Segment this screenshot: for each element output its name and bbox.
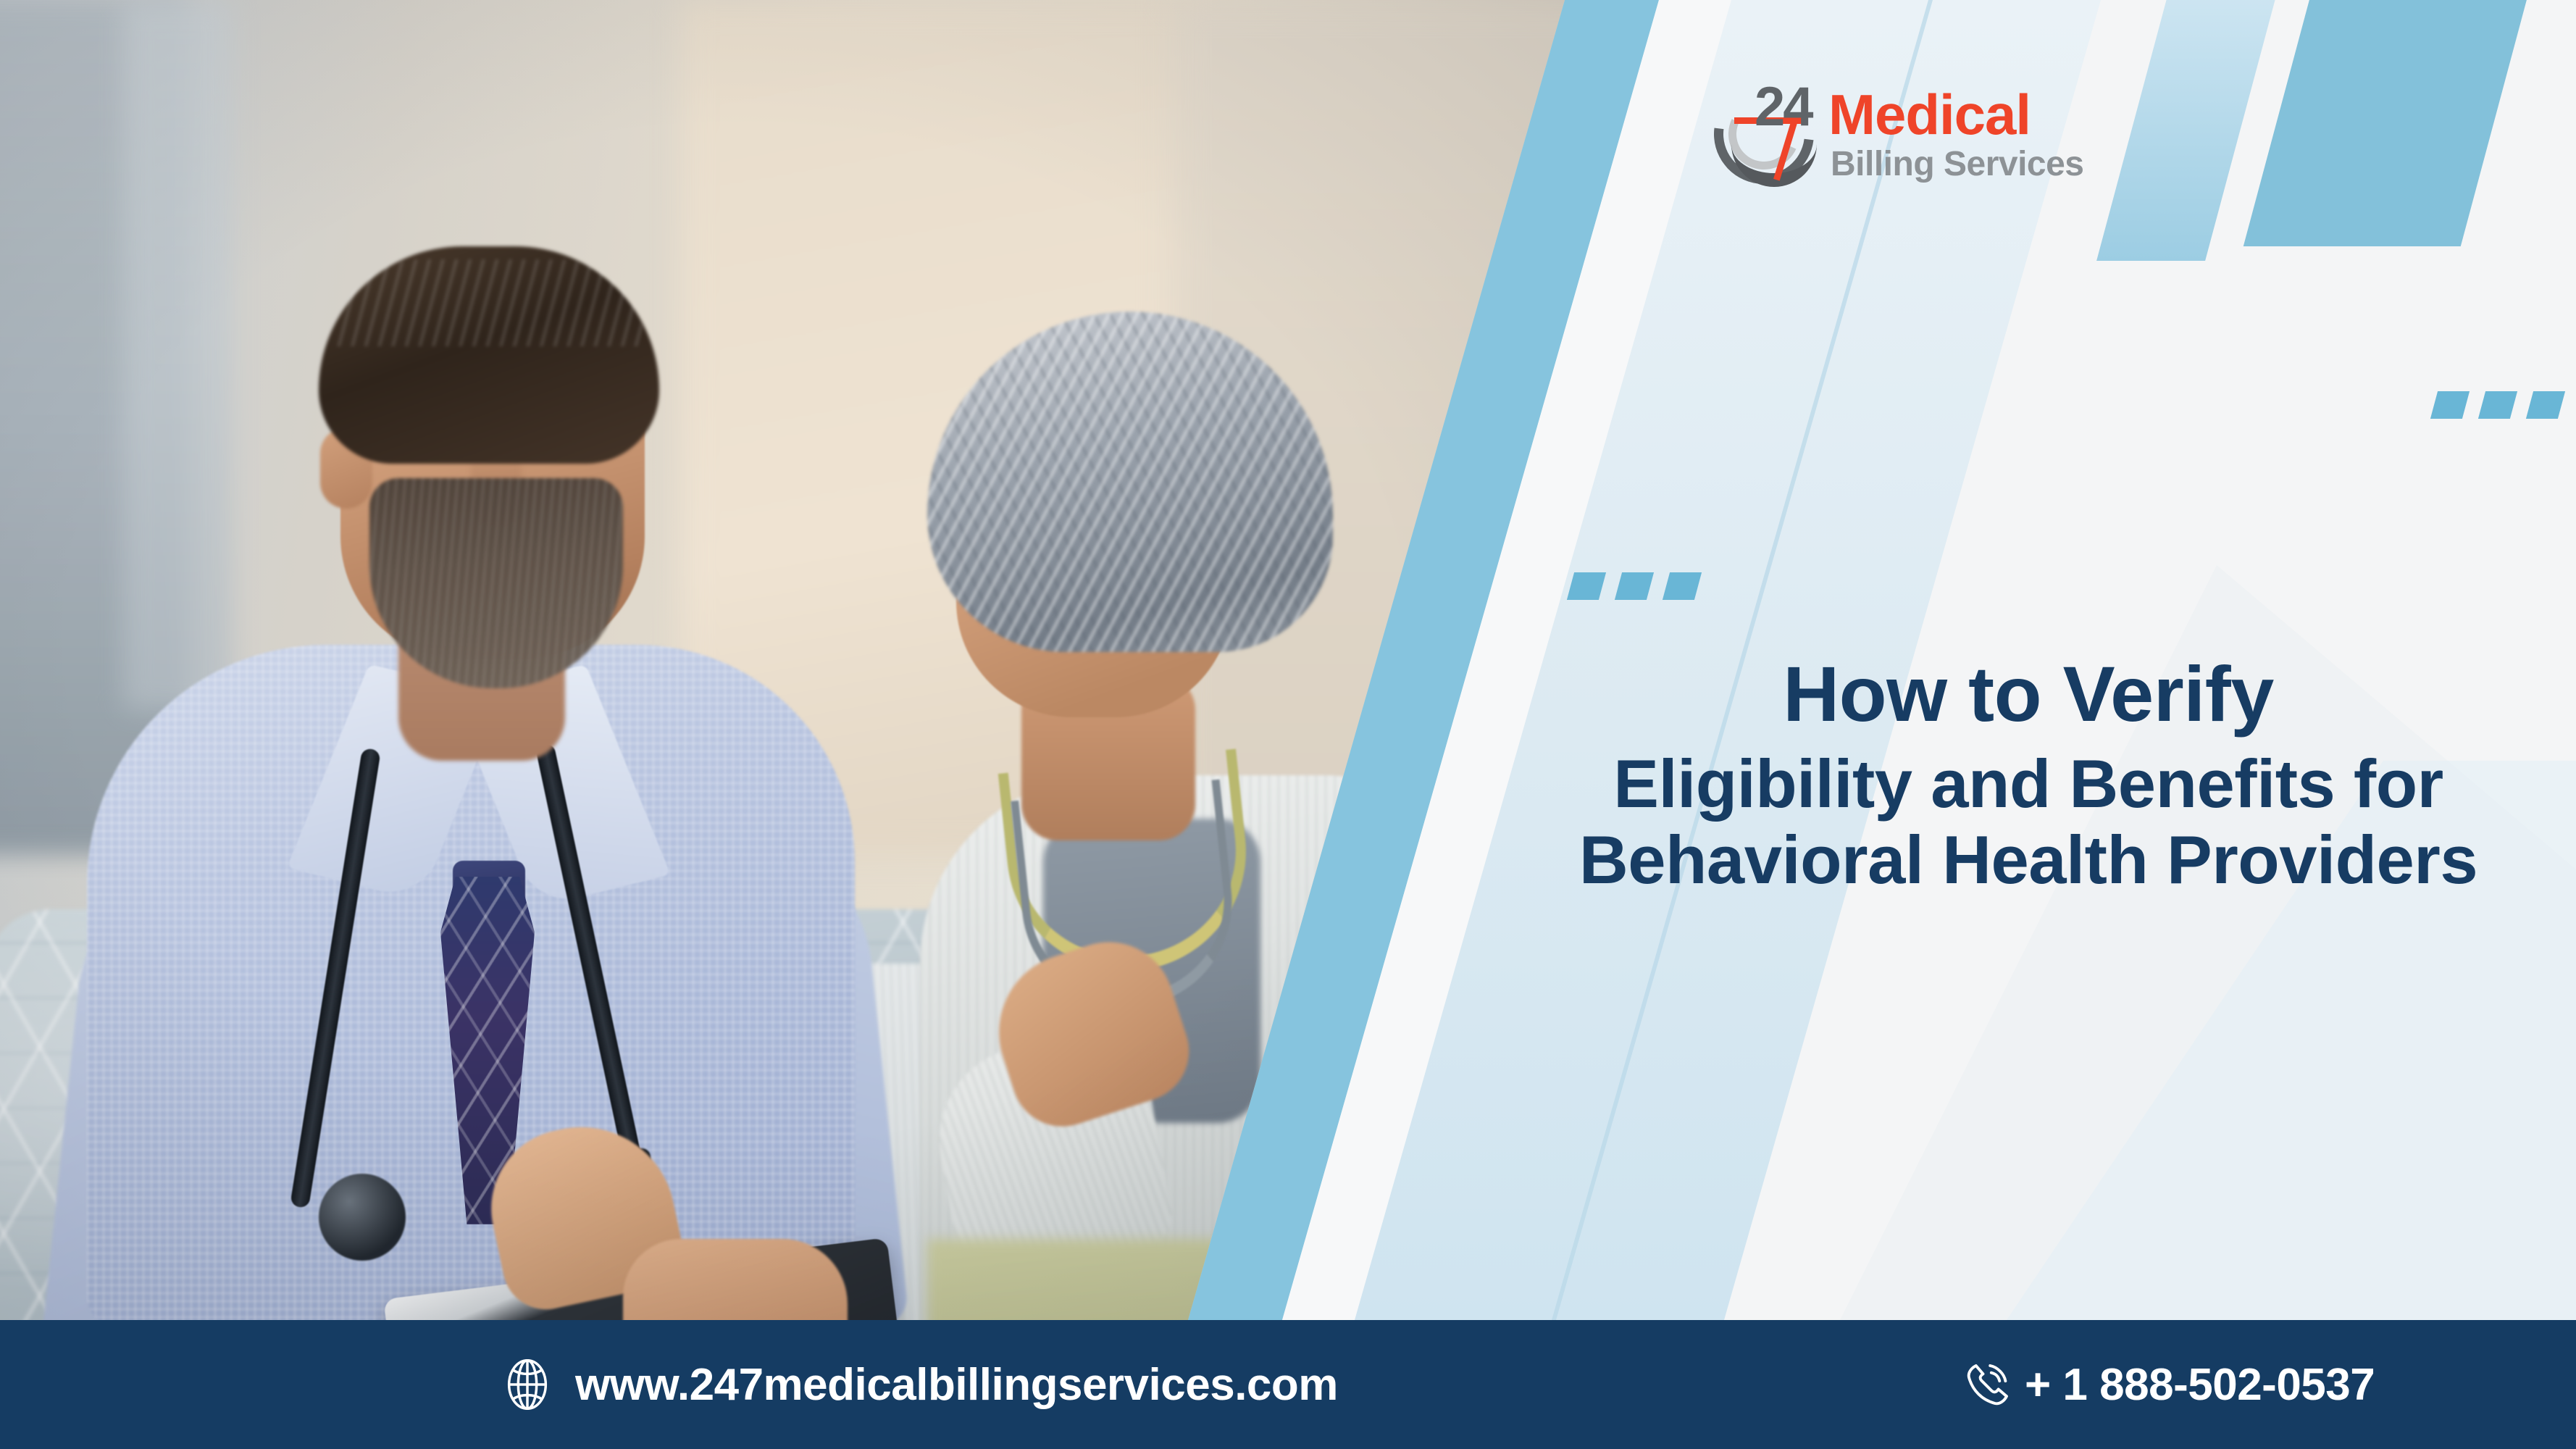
website-url-text: www.247medicalbillingservices.com bbox=[575, 1359, 1338, 1411]
dot-shape bbox=[2526, 391, 2565, 419]
phone-link[interactable]: + 1 888-502-0537 bbox=[1960, 1356, 2375, 1413]
decorative-dots-right bbox=[2434, 391, 2562, 419]
globe-icon bbox=[500, 1357, 555, 1412]
dot-shape bbox=[2478, 391, 2517, 419]
headline-block: How to Verify Eligibility and Benefits f… bbox=[1521, 652, 2535, 897]
clock-24-7-icon: 24 bbox=[1710, 80, 1818, 188]
accent-parallelogram-solid bbox=[2243, 0, 2530, 246]
banner: 24 Medical Billing Services How to Verif… bbox=[0, 0, 2576, 1449]
dot-shape bbox=[1615, 572, 1654, 600]
logo-medical-text: Medical bbox=[1828, 86, 2084, 143]
headline-line-1: How to Verify bbox=[1521, 652, 2535, 737]
decorative-dots-left bbox=[1571, 572, 1698, 600]
headline-line-2: Eligibility and Benefits for bbox=[1521, 747, 2535, 821]
company-logo[interactable]: 24 Medical Billing Services bbox=[1710, 80, 2084, 188]
phone-call-icon bbox=[1960, 1356, 2016, 1413]
logo-24-text: 24 bbox=[1755, 75, 1812, 138]
dot-shape bbox=[2430, 391, 2470, 419]
footer-bar: www.247medicalbillingservices.com + 1 88… bbox=[0, 1320, 2576, 1449]
headline-line-3: Behavioral Health Providers bbox=[1521, 823, 2535, 897]
phone-number-text: + 1 888-502-0537 bbox=[2025, 1359, 2375, 1411]
dot-shape bbox=[1567, 572, 1606, 600]
dot-shape bbox=[1663, 572, 1702, 600]
logo-wordmark: Medical Billing Services bbox=[1828, 86, 2084, 182]
website-link[interactable]: www.247medicalbillingservices.com bbox=[500, 1357, 1338, 1412]
logo-billing-services-text: Billing Services bbox=[1831, 147, 2084, 182]
